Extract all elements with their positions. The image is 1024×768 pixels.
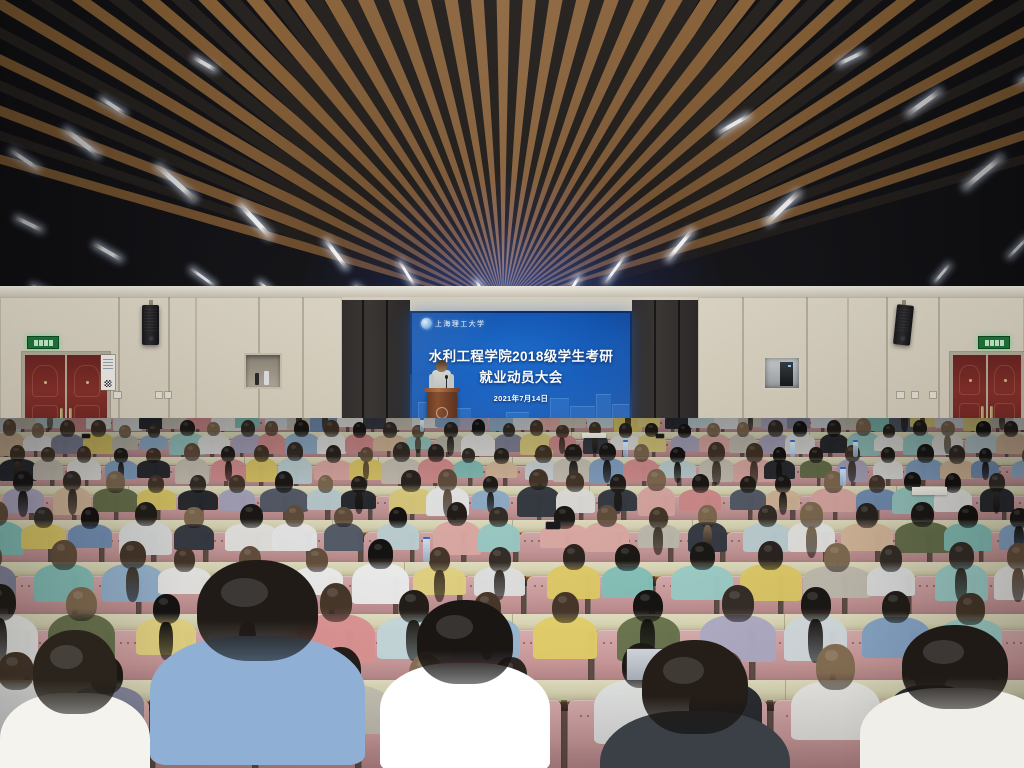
wall-outlet-right-3[interactable] — [930, 392, 936, 398]
audience-member-ponytail — [447, 436, 454, 456]
audience-member-ponytail — [126, 567, 139, 602]
audience-member-ponytail — [68, 489, 77, 514]
water-bottle[interactable] — [420, 420, 424, 432]
control-room-window — [765, 358, 799, 388]
audience-member-ponytail — [1012, 568, 1024, 602]
foreground-audience-member — [860, 625, 1024, 768]
audience-member-ponytail — [355, 492, 363, 514]
wall-speaker-left — [142, 305, 159, 345]
audience-member — [68, 524, 112, 548]
foreground-audience-member — [0, 630, 150, 768]
audience-member — [272, 523, 317, 551]
audience-member — [1012, 460, 1024, 478]
ceiling-light-fixture — [1007, 236, 1024, 258]
person-head — [722, 585, 754, 622]
exit-sign-left — [27, 336, 59, 349]
audience-member-ponytail — [674, 462, 681, 483]
wall-outlet-left[interactable] — [114, 392, 121, 398]
foreground-audience-member — [380, 600, 550, 750]
person-head — [33, 630, 117, 714]
person-torso — [1012, 460, 1024, 478]
person-head — [642, 640, 748, 734]
audience-member — [895, 522, 951, 553]
wall-outlet-right-2[interactable] — [912, 392, 918, 398]
person-head — [902, 625, 1008, 709]
audience-member — [33, 459, 63, 480]
foreground-audience-member — [600, 640, 790, 768]
water-bottle[interactable] — [840, 469, 846, 486]
audience-member-ponytail — [18, 491, 28, 518]
ceiling-light-fixture — [15, 216, 44, 233]
wall-notice-left — [101, 355, 115, 390]
audience-member-ponytail — [806, 526, 817, 558]
audience-member — [454, 460, 483, 478]
water-bottle[interactable] — [790, 442, 795, 457]
mobile-phone[interactable] — [546, 522, 560, 529]
person-head — [417, 600, 512, 684]
microphone-head-icon — [445, 375, 448, 379]
mobile-phone[interactable] — [82, 434, 90, 438]
mobile-phone[interactable] — [656, 434, 664, 438]
person-torso — [324, 523, 363, 551]
notebook-paper[interactable] — [912, 487, 947, 495]
presenter-head — [436, 360, 447, 372]
audience-member — [996, 433, 1024, 454]
person-torso — [272, 523, 317, 551]
audience-member — [112, 435, 138, 449]
audience-member-ponytail — [712, 461, 720, 486]
audience-member — [324, 523, 363, 551]
audience-member — [174, 524, 214, 550]
audience-seating-area — [0, 418, 1024, 768]
wall-outlet-left-3[interactable] — [165, 392, 171, 398]
ceiling-light-fixture — [190, 267, 216, 287]
audience-member-ponytail — [982, 462, 989, 480]
audience-member-ponytail — [901, 418, 908, 432]
ceiling-light-fixture — [93, 242, 123, 261]
water-bottle[interactable] — [853, 442, 858, 457]
person-head — [197, 560, 317, 661]
person-torso — [33, 459, 63, 480]
wall-outlet-left-2[interactable] — [156, 392, 162, 398]
lecture-hall-screenshot: 上海理工大学 水利工程学院2018级学生考研 就业动员大会 2021年7月14日 — [0, 0, 1024, 768]
audience-member — [820, 434, 849, 454]
wall-outlet-right[interactable] — [897, 392, 904, 398]
ceiling — [0, 0, 1024, 300]
audience-member — [486, 461, 517, 478]
wall-niche-left — [246, 355, 280, 387]
audience-member-ponytail — [415, 437, 421, 453]
audience-member-ponytail — [653, 527, 663, 555]
notebook-paper[interactable] — [582, 433, 606, 438]
exit-sign-right — [978, 336, 1010, 349]
audience-member-ponytail — [434, 570, 445, 602]
audience-member — [93, 488, 138, 512]
water-bottle[interactable] — [423, 539, 431, 562]
foreground-audience-member — [150, 560, 365, 740]
person-torso — [246, 458, 277, 481]
water-bottle[interactable] — [623, 442, 628, 457]
ceiling-light-fixture — [933, 263, 951, 283]
audience-member-ponytail — [779, 492, 787, 515]
wall-top-trim — [0, 286, 1024, 297]
audience-member — [246, 458, 277, 481]
audience-member-ponytail — [848, 461, 855, 483]
